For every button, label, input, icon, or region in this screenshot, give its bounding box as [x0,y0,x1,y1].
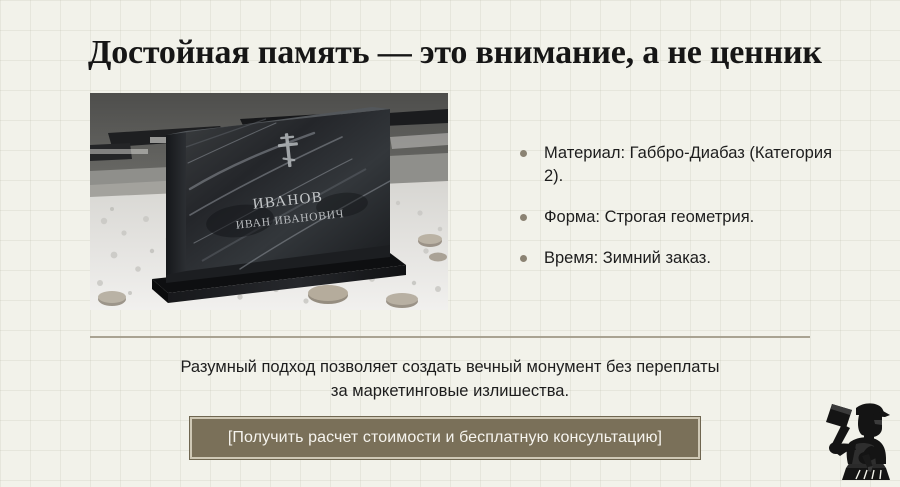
supporting-text-line2: за маркетинговые излишества. [331,382,569,400]
bullet-dot-icon [520,150,527,157]
stonemason-logo [812,398,892,482]
cta-button-label: [Получить расчет стоимости и бесплатную … [228,429,662,447]
spec-bullet-list: Материал: Габбро-Диабаз (Категория 2). Ф… [518,142,848,270]
cta-button[interactable]: [Получить расчет стоимости и бесплатную … [190,417,700,459]
horizontal-divider [90,336,810,338]
bullet-dot-icon [520,214,527,221]
list-item: Время: Зимний заказ. [518,247,848,270]
supporting-text-line1: Разумный подход позволяет создать вечный… [180,358,719,376]
list-item-label: Форма: Строгая геометрия. [544,208,754,226]
stonemason-logo-icon [812,398,892,482]
list-item-label: Время: Зимний заказ. [544,249,711,267]
list-item: Материал: Габбро-Диабаз (Категория 2). [518,142,848,188]
list-item-label: Материал: Габбро-Диабаз (Категория 2). [544,144,832,185]
list-item: Форма: Строгая геометрия. [518,206,848,229]
headstone-illustration: ИВАНОВ ИВАН ИВАНОВИЧ [90,93,448,310]
supporting-text: Разумный подход позволяет создать вечный… [120,355,780,403]
headstone-photo: ИВАНОВ ИВАН ИВАНОВИЧ [90,93,448,310]
page-title: Достойная память — это внимание, а не це… [88,33,848,73]
bullet-dot-icon [520,255,527,262]
slide-canvas: Достойная память — это внимание, а не це… [0,0,900,487]
